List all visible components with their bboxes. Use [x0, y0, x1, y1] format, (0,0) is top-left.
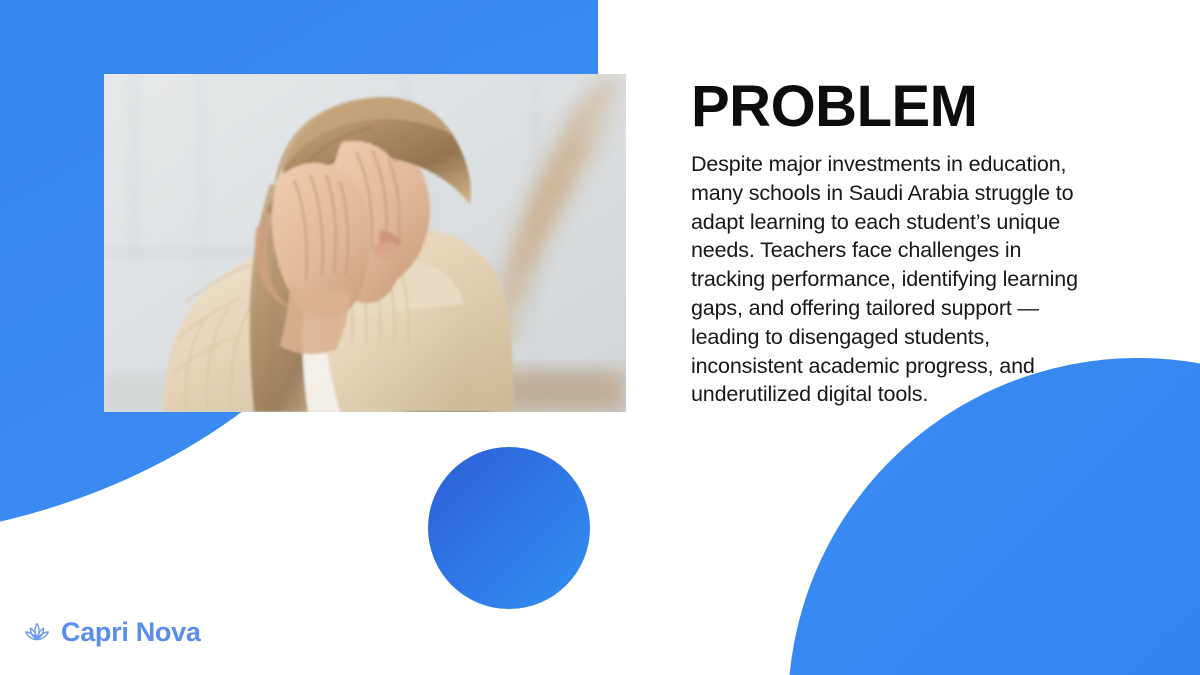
slide-canvas: PROBLEM Despite major investments in edu…: [0, 0, 1200, 675]
brand-name: Capri Nova: [61, 619, 201, 646]
text-column: PROBLEM Despite major investments in edu…: [691, 78, 1091, 409]
accent-gradient-circle: [428, 447, 590, 609]
problem-description: Despite major investments in education, …: [691, 150, 1091, 409]
page-title: PROBLEM: [691, 78, 1091, 136]
stressed-woman-illustration: [104, 74, 626, 412]
brand-logo[interactable]: Capri Nova: [22, 617, 201, 647]
problem-photo: [104, 74, 626, 412]
lotus-icon: [22, 617, 52, 647]
